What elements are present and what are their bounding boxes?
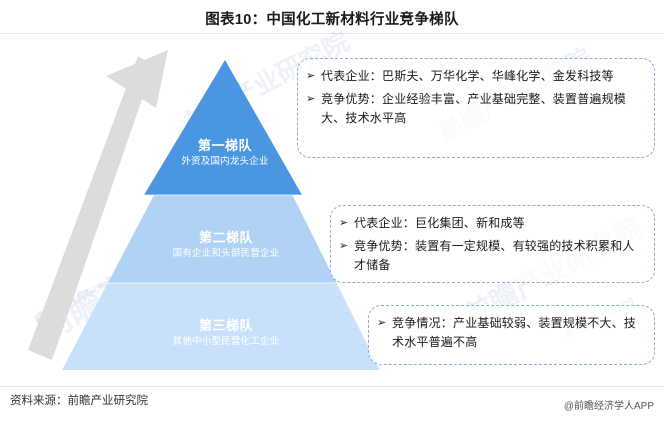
pyramid-tier-1[interactable] [144, 60, 302, 195]
bullet-text: 竞争情况：产业基础较弱、装置规模不大、技术水平普遍不高 [392, 314, 644, 352]
callout-tier-1: ➢ 代表企业：巴斯夫、万华化学、华峰化学、金发科技等 ➢ 竞争优势：企业经验丰富… [297, 58, 655, 158]
bullet-item: ➢ 竞争优势：装置有一定规模、有较强的技术积累和人才储备 [339, 237, 644, 275]
bullet-text: 竞争优势：装置有一定规模、有较强的技术积累和人才储备 [354, 237, 644, 275]
page-title: 图表10：中国化工新材料行业竞争梯队 [0, 8, 664, 29]
bullet-text: 代表企业：巴斯夫、万华化学、华峰化学、金发科技等 [321, 67, 644, 86]
callout-tier-3: ➢ 竞争情况：产业基础较弱、装置规模不大、技术水平普遍不高 [368, 305, 655, 365]
infographic-root: 图表10：中国化工新材料行业竞争梯队 前瞻产业研究院 前瞻产业研究院 前瞻产业研… [0, 0, 664, 425]
bullet-item: ➢ 代表企业：巨化集团、新和成等 [339, 214, 644, 233]
footer-divider [0, 386, 664, 387]
arrow-bullet-icon: ➢ [339, 237, 354, 256]
arrow-bullet-icon: ➢ [306, 67, 321, 86]
callout-tier-2: ➢ 代表企业：巨化集团、新和成等 ➢ 竞争优势：装置有一定规模、有较强的技术积累… [330, 205, 655, 283]
arrow-bullet-icon: ➢ [377, 314, 392, 333]
arrow-bullet-icon: ➢ [306, 90, 321, 109]
bullet-item: ➢ 竞争情况：产业基础较弱、装置规模不大、技术水平普遍不高 [377, 314, 644, 352]
title-divider [0, 33, 664, 34]
bullet-text: 代表企业：巨化集团、新和成等 [354, 214, 644, 233]
bullet-item: ➢ 竞争优势：企业经验丰富、产业基础完整、装置普遍规模大、技术水平高 [306, 90, 644, 128]
arrow-bullet-icon: ➢ [339, 214, 354, 233]
bullet-text: 竞争优势：企业经验丰富、产业基础完整、装置普遍规模大、技术水平高 [321, 90, 644, 128]
bullet-item: ➢ 代表企业：巴斯夫、万华化学、华峰化学、金发科技等 [306, 67, 644, 86]
brand-label: @前瞻经济学人APP [564, 397, 654, 412]
source-label: 资料来源：前瞻产业研究院 [10, 392, 148, 408]
